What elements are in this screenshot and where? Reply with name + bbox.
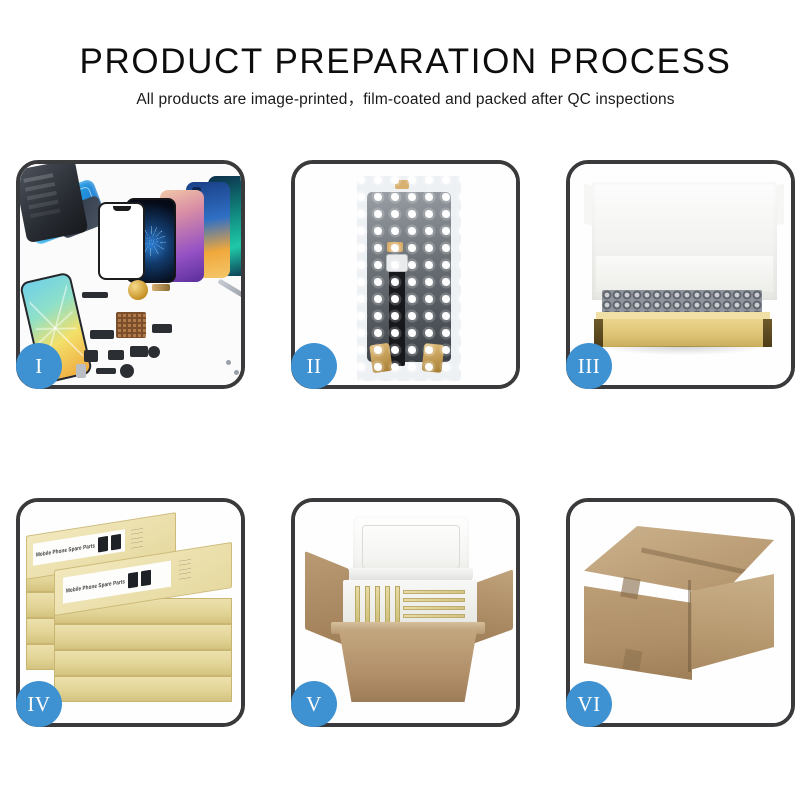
product-preparation-process-page: PRODUCT PREPARATION PROCESS All products… — [0, 0, 811, 811]
page-title: PRODUCT PREPARATION PROCESS — [0, 42, 811, 82]
box-shadow — [600, 346, 766, 355]
carton-tape-patch — [620, 577, 640, 600]
gold-box-flat — [403, 606, 465, 610]
box-label-text: Mobile Phone Spare Parts — [66, 578, 125, 594]
spare-part-icon — [120, 364, 134, 378]
spare-part-icon — [130, 346, 148, 357]
label-thumbnail-icon — [98, 535, 108, 552]
gold-box-flat — [403, 598, 465, 602]
step-panel-ii[interactable]: II — [291, 160, 520, 389]
carton-vertical-edge — [688, 580, 691, 672]
step-panel-iii[interactable]: III — [566, 160, 795, 389]
box-label-front: Mobile Phone Spare Parts — [63, 561, 171, 604]
step-badge-i: I — [16, 343, 62, 389]
page-subtitle: All products are image-printed，film-coat… — [0, 90, 811, 110]
box-corner-left — [594, 319, 603, 347]
step-panel-i[interactable]: I — [16, 160, 245, 389]
screw-icon — [226, 360, 231, 365]
spare-part-icon — [152, 324, 172, 333]
spare-part-icon — [108, 350, 124, 360]
label-thumbnail-icon — [111, 533, 121, 550]
box-label-specs: ───── ───── ───── ───── ───── — [179, 557, 191, 581]
step-panel-iv[interactable]: Mobile Phone Spare Parts ───── ───── ───… — [16, 498, 245, 727]
stacked-box — [54, 676, 232, 702]
gold-box-base — [594, 319, 772, 347]
gold-box-upright — [395, 586, 400, 626]
screw-icon — [234, 370, 239, 375]
spare-part-icon — [84, 350, 98, 362]
spare-part-icon — [82, 292, 108, 298]
header: PRODUCT PREPARATION PROCESS All products… — [0, 42, 811, 110]
step-panel-vi[interactable]: VI — [566, 498, 795, 727]
foam-liner — [596, 256, 773, 292]
box-label-specs: ───── ───── ───── ───── ───── — [131, 526, 143, 550]
gold-box-flat — [403, 590, 465, 594]
bubble-wrap-bag — [357, 176, 461, 381]
spare-part-icon — [152, 284, 170, 291]
step-badge-ii: II — [291, 343, 337, 389]
phone-back-housing-icon — [20, 164, 88, 243]
gold-box-flat — [403, 614, 465, 618]
carton-tape-patch — [622, 649, 642, 672]
tweezer-icon — [217, 279, 241, 303]
step-badge-iii: III — [566, 343, 612, 389]
chip-array-icon — [116, 312, 146, 338]
carton-top-seam — [641, 548, 779, 582]
stacked-box — [54, 624, 232, 650]
spare-part-icon — [90, 330, 114, 339]
step-badge-vi: VI — [566, 681, 612, 727]
gold-box-upright — [365, 586, 370, 626]
label-thumbnail-icon — [141, 569, 151, 586]
stacked-box — [54, 650, 232, 676]
spare-part-icon — [148, 346, 160, 358]
tempered-glass-panel-icon — [98, 202, 145, 280]
bubble-texture-overlay — [357, 176, 461, 381]
process-steps-grid: I II — [16, 160, 795, 727]
spare-part-icon — [76, 364, 86, 378]
step-panel-v[interactable]: V — [291, 498, 520, 727]
gold-box-upright — [385, 586, 390, 626]
gold-box-upright — [375, 586, 380, 626]
spare-part-icon — [96, 368, 116, 374]
carton-front-wall — [339, 630, 477, 702]
step-badge-iv: IV — [16, 681, 62, 727]
box-corner-right — [763, 319, 772, 347]
box-label-text: Mobile Phone Spare Parts — [36, 542, 95, 558]
step-badge-v: V — [291, 681, 337, 727]
gold-component-icon — [128, 280, 148, 300]
gold-box-upright — [355, 586, 360, 626]
label-thumbnail-icon — [128, 571, 138, 588]
